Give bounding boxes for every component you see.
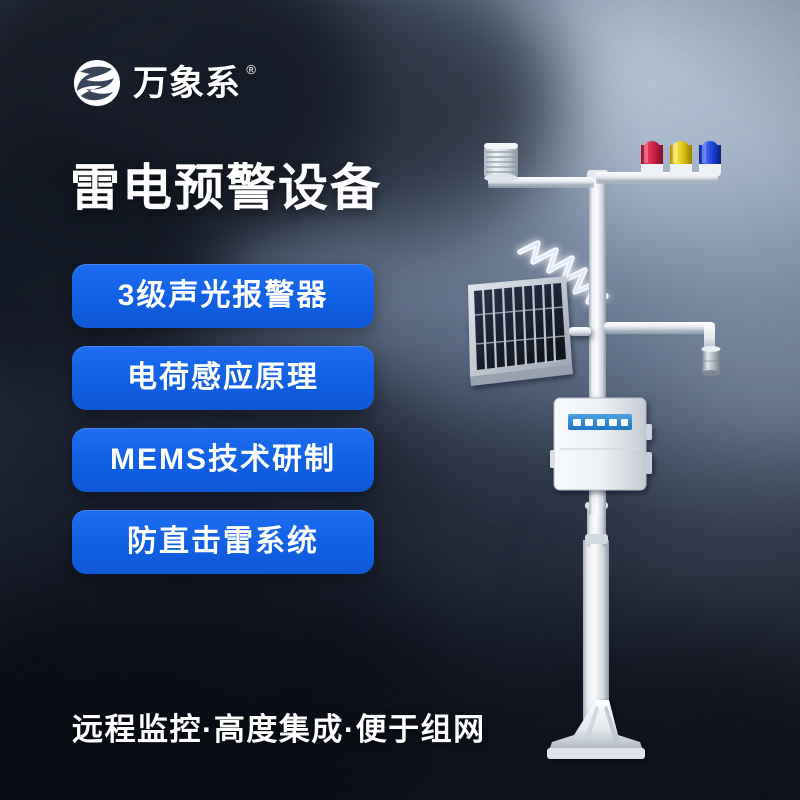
brand-lockup: 万象系® [72,58,241,108]
globe-swoosh-logo-icon [72,58,122,108]
feature-pill[interactable]: 3级声光报警器 [72,264,374,328]
feature-pill-list: 3级声光报警器 电荷感应原理 MEMS技术研制 防直击雷系统 [72,264,374,574]
feature-pill[interactable]: 电荷感应原理 [72,346,374,410]
tagline: 远程监控·高度集成·便于组网 [72,714,486,745]
feature-pill-label: MEMS技术研制 [110,445,336,475]
registered-mark: ® [246,63,257,76]
brand-name: 万象系® [133,66,241,101]
page-title: 雷电预警设备 [70,163,382,213]
feature-pill-label: 防直击雷系统 [127,527,319,557]
poster-canvas: 万象系® 雷电预警设备 3级声光报警器 电荷感应原理 MEMS技术研制 防直击雷… [0,0,800,800]
feature-pill-label: 电荷感应原理 [127,363,319,393]
feature-pill[interactable]: MEMS技术研制 [72,428,374,492]
feature-pill-label: 3级声光报警器 [118,281,329,311]
brand-name-text: 万象系 [133,64,241,103]
feature-pill[interactable]: 防直击雷系统 [72,510,374,574]
